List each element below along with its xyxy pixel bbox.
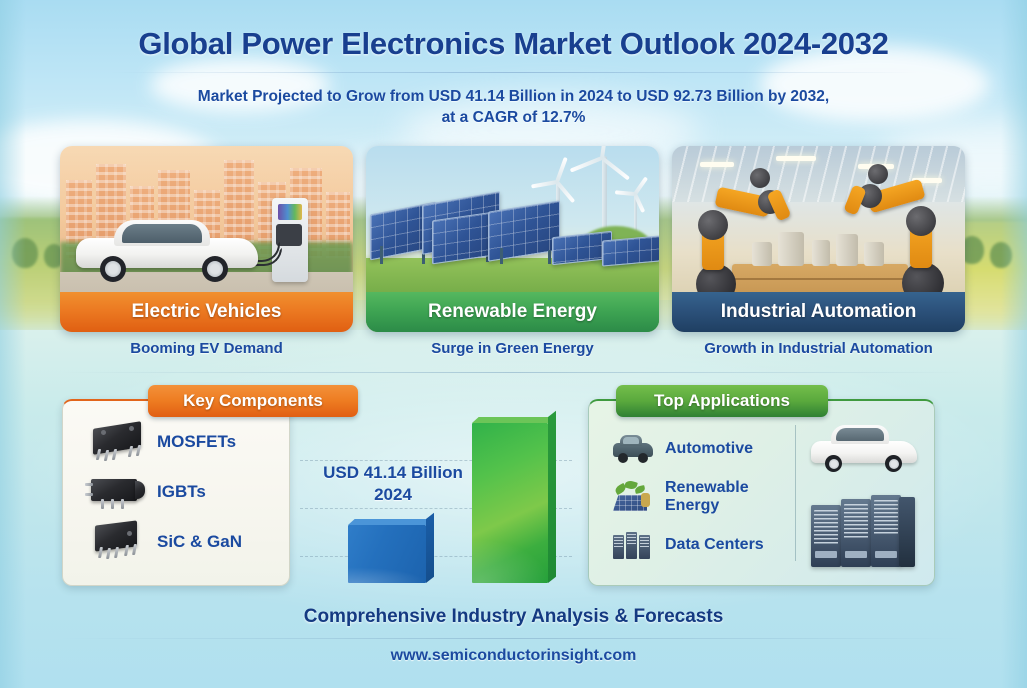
top-applications-header: Top Applications (616, 385, 828, 417)
hero-card-subcaption-ev: Booming EV Demand (60, 340, 353, 357)
key-components-header: Key Components (148, 385, 358, 417)
subtitle-line-2: at a CAGR of 12.7% (0, 107, 1027, 128)
chart-annotation-year: 2024 (300, 484, 486, 506)
footer-divider (60, 638, 967, 639)
section-divider (60, 372, 967, 373)
server-rack-icon (611, 529, 655, 561)
market-growth-bar-chart: USD 41.14 Billion 2024 (300, 408, 572, 583)
footer-url[interactable]: www.semiconductorinsight.com (0, 647, 1027, 665)
hero-card-caption: Renewable Energy (366, 292, 659, 332)
server-racks-photo (811, 491, 919, 569)
list-item-label: Renewable Energy (665, 479, 793, 515)
hero-card-row: Electric Vehicles (60, 146, 967, 332)
car-icon (611, 433, 655, 465)
list-item[interactable]: MOSFETs (79, 417, 275, 467)
list-item[interactable]: Renewable Energy (603, 473, 793, 521)
list-item-label: IGBTs (157, 482, 206, 502)
top-applications-panel: Automotive Renewable Energy Da (588, 399, 935, 586)
hero-card-caption: Industrial Automation (672, 292, 965, 332)
hero-card-industrial-automation[interactable]: Industrial Automation (672, 146, 965, 332)
white-sedan-photo (809, 419, 921, 475)
list-item-label: MOSFETs (157, 432, 236, 452)
list-item[interactable]: IGBTs (79, 467, 275, 517)
page-subtitle: Market Projected to Grow from USD 41.14 … (0, 86, 1027, 128)
list-item[interactable]: Data Centers (603, 521, 793, 569)
list-item[interactable]: Automotive (603, 425, 793, 473)
title-divider (110, 72, 917, 73)
list-item-label: Automotive (665, 440, 753, 458)
bar-2024[interactable] (348, 525, 426, 583)
panel-divider (795, 425, 796, 561)
key-components-panel: MOSFETs IGBTs (62, 399, 290, 586)
footer-tagline: Comprehensive Industry Analysis & Foreca… (0, 606, 1027, 628)
top-applications-list: Automotive Renewable Energy Da (603, 425, 793, 569)
list-item[interactable]: SiC & GaN (79, 517, 275, 567)
hero-card-caption: Electric Vehicles (60, 292, 353, 332)
key-components-list: MOSFETs IGBTs (79, 417, 275, 567)
page-title: Global Power Electronics Market Outlook … (0, 26, 1027, 62)
list-item-label: Data Centers (665, 536, 764, 554)
infographic-canvas: Global Power Electronics Market Outlook … (0, 0, 1027, 688)
list-item-label: SiC & GaN (157, 532, 242, 552)
hero-card-subcaption-renewable: Surge in Green Energy (366, 340, 659, 357)
solar-panel-leaf-icon (611, 481, 655, 513)
hero-card-electric-vehicles[interactable]: Electric Vehicles (60, 146, 353, 332)
chart-annotation-value: USD 41.14 Billion (300, 462, 486, 484)
subtitle-line-1: Market Projected to Grow from USD 41.14 … (0, 86, 1027, 107)
hero-card-subcaption-industrial: Growth in Industrial Automation (672, 340, 965, 357)
top-applications-media (809, 419, 921, 569)
hero-card-renewable-energy[interactable]: Renewable Energy (366, 146, 659, 332)
chart-annotation: USD 41.14 Billion 2024 (300, 462, 486, 506)
